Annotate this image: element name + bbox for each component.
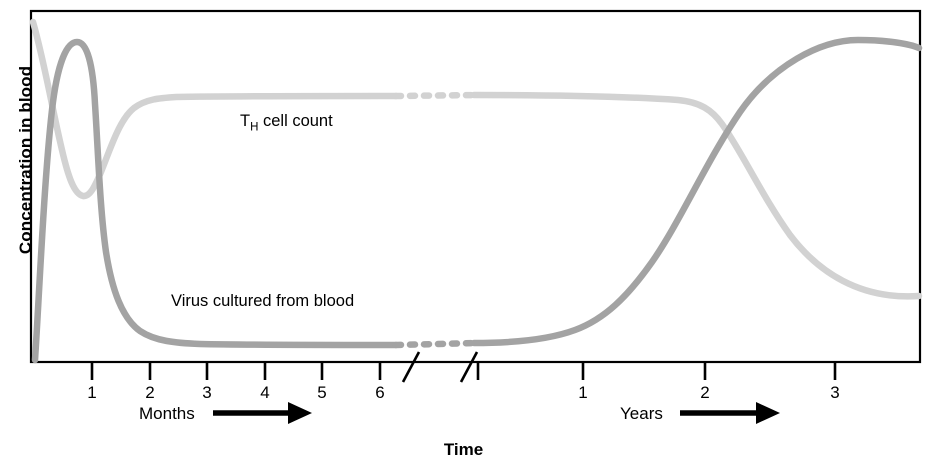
tick-label-month-4: 4 xyxy=(250,383,280,403)
tick-label-year-2: 2 xyxy=(690,383,720,403)
tick-label-month-5: 5 xyxy=(307,383,337,403)
chart-figure: Concentration in blood xyxy=(0,0,927,464)
tick-label-month-3: 3 xyxy=(192,383,222,403)
series-label-th-cell-count: TH cell count xyxy=(240,112,333,133)
years-axis-label: Years xyxy=(620,404,663,424)
tick-label-year-1: 1 xyxy=(568,383,598,403)
x-axis-label: Time xyxy=(0,440,927,460)
years-arrow-icon xyxy=(680,402,780,424)
th-label-rest: cell count xyxy=(258,112,332,130)
tick-label-year-3: 3 xyxy=(820,383,850,403)
month-ticks xyxy=(92,363,380,380)
th-curve-break-dash xyxy=(396,95,478,96)
tick-label-month-6: 6 xyxy=(365,383,395,403)
months-arrow-icon xyxy=(213,402,312,424)
year-ticks xyxy=(478,363,835,380)
series-label-virus-cultured: Virus cultured from blood xyxy=(171,292,354,311)
tick-label-month-1: 1 xyxy=(77,383,107,403)
virus-curve-break-dash xyxy=(396,343,478,345)
th-label-main: T xyxy=(240,112,250,130)
tick-label-month-2: 2 xyxy=(135,383,165,403)
months-axis-label: Months xyxy=(139,404,195,424)
